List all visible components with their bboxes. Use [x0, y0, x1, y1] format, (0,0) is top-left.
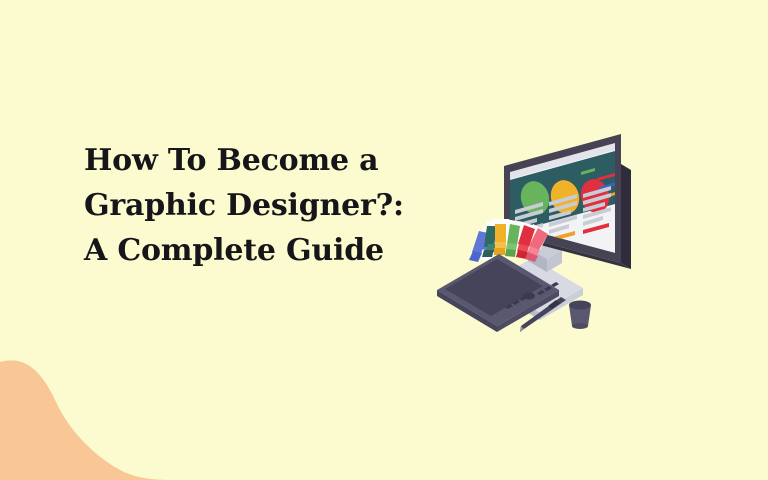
page-title: How To Become a Graphic Designer?: A Com…	[84, 138, 414, 273]
graphic-design-workspace-illustration	[425, 120, 650, 345]
peach-blob-shape	[0, 360, 176, 480]
pen-cup	[569, 301, 591, 330]
peach-blob	[0, 340, 210, 480]
swatch-yellow	[494, 224, 506, 255]
article-banner: How To Become a Graphic Designer?: A Com…	[0, 0, 768, 480]
